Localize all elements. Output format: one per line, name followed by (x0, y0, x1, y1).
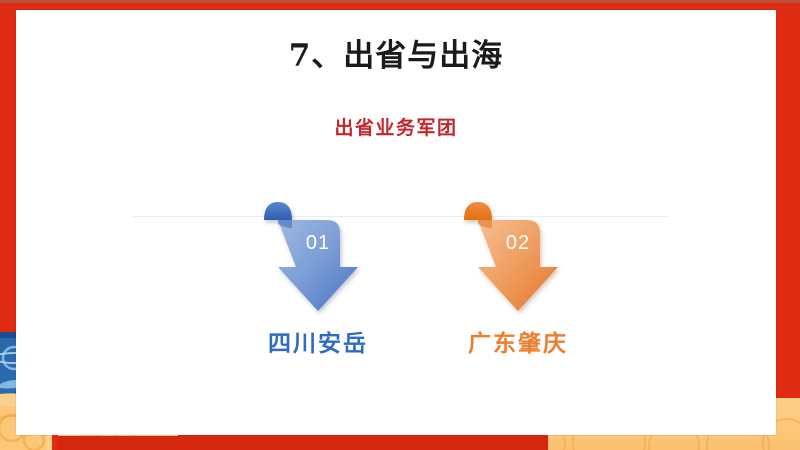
arrow-card-02[interactable]: 02 广东肇庆 (438, 190, 598, 358)
arrow-group: 01 四川安岳 (16, 190, 776, 380)
arrow-label-01: 四川安岳 (238, 324, 398, 358)
frame-top-hairline (0, 0, 800, 3)
slide-root: 7、出省与出海 出省业务军团 (0, 0, 800, 450)
arrow-card-01[interactable]: 01 四川安岳 (238, 190, 398, 358)
page-subtitle: 出省业务军团 (16, 113, 776, 140)
down-arrow-icon: 01 (238, 190, 398, 318)
page-title: 7、出省与出海 (16, 30, 776, 75)
down-arrow-icon: 02 (438, 190, 598, 318)
slide-canvas: 7、出省与出海 出省业务军团 (16, 10, 776, 435)
arrow-label-02: 广东肇庆 (438, 324, 598, 358)
